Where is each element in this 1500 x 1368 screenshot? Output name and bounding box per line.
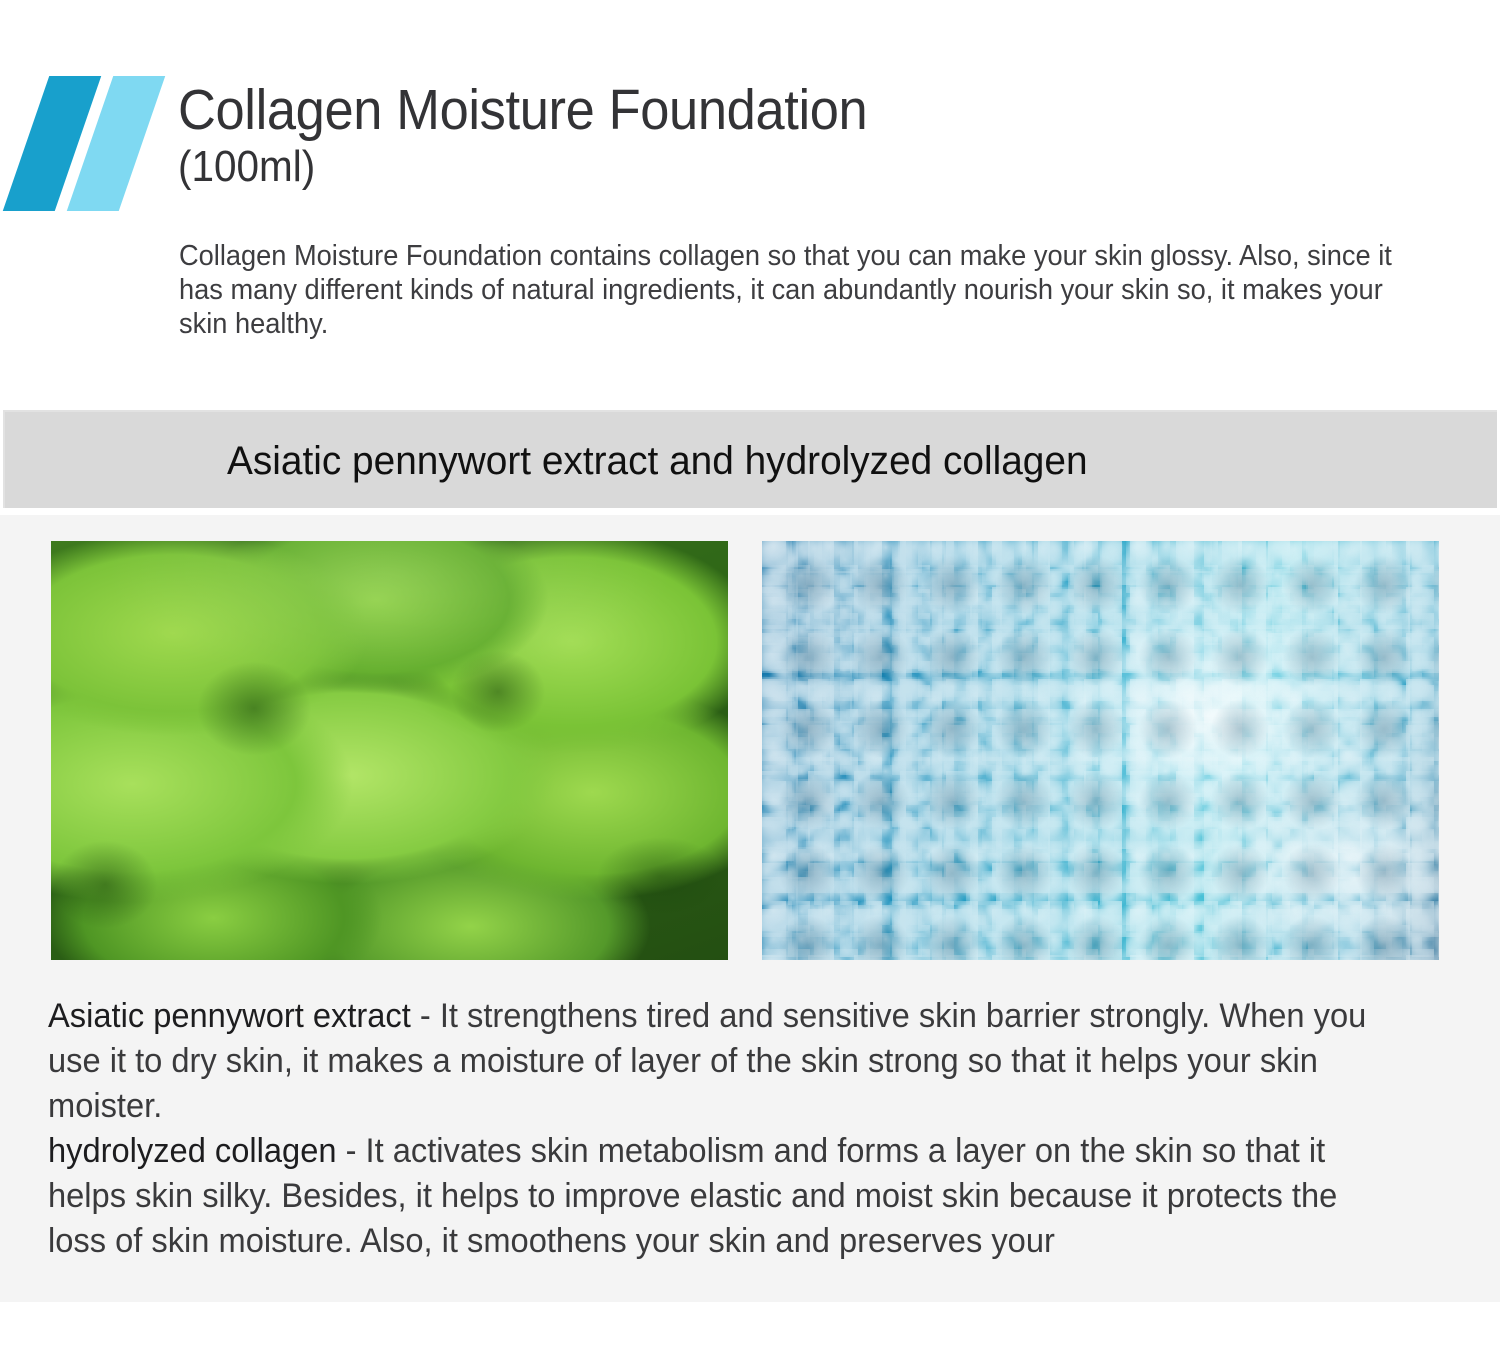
ingredient-name: Asiatic pennywort extract [48, 997, 411, 1035]
double-slash-logo-icon [8, 76, 158, 211]
ingredient-separator: - [337, 1132, 366, 1170]
water-bubbles-image [762, 541, 1439, 960]
bubbles-artwork [762, 541, 1439, 960]
ingredient-separator: - [411, 997, 440, 1035]
pennywort-leaves-image [51, 541, 728, 960]
intro-paragraph: Collagen Moisture Foundation contains co… [179, 239, 1436, 341]
section-banner: Asiatic pennywort extract and hydrolyzed… [3, 410, 1497, 508]
leaves-artwork [51, 541, 728, 960]
page-title: Collagen Moisture Foundation [178, 80, 1374, 140]
header-section: Collagen Moisture Foundation (100ml) Col… [0, 0, 1500, 408]
ingredient-item: Asiatic pennywort extract - It strengthe… [48, 994, 1402, 1129]
section-banner-heading: Asiatic pennywort extract and hydrolyzed… [227, 436, 1088, 486]
ingredient-images-row [0, 541, 1500, 960]
footer-whitespace [0, 1302, 1500, 1368]
ingredients-section: Asiatic pennywort extract - It strengthe… [0, 515, 1500, 1302]
ingredient-descriptions: Asiatic pennywort extract - It strengthe… [48, 994, 1402, 1264]
title-block: Collagen Moisture Foundation (100ml) [178, 80, 1478, 194]
product-detail-page: Collagen Moisture Foundation (100ml) Col… [0, 0, 1500, 1368]
product-volume: (100ml) [178, 140, 1374, 194]
ingredient-item: hydrolyzed collagen - It activates skin … [48, 1129, 1402, 1264]
ingredient-name: hydrolyzed collagen [48, 1132, 337, 1170]
